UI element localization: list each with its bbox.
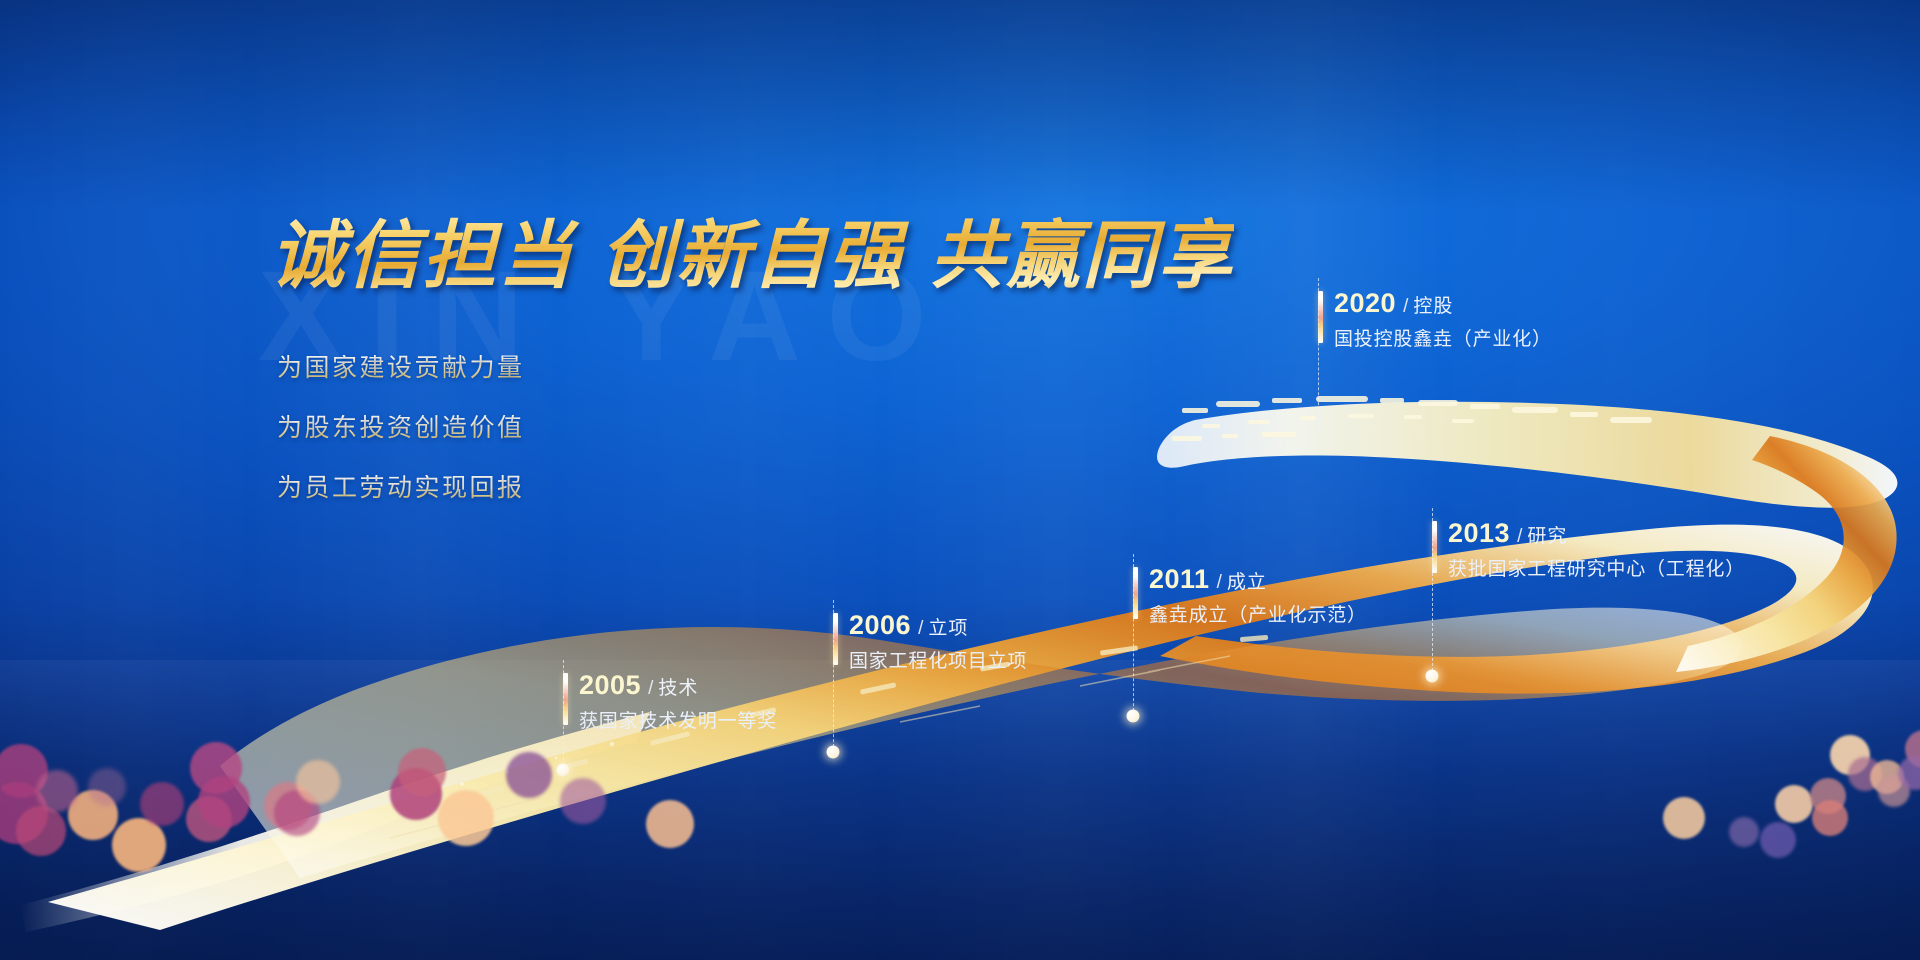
- timeline-leader-2005: [563, 660, 564, 770]
- bokeh-dot: [560, 778, 606, 824]
- timeline-desc-2020: 国投控股鑫垚（产业化）: [1334, 330, 1552, 349]
- bokeh-dot: [646, 800, 694, 848]
- page-title: 诚信担当创新自强共赢同享: [270, 196, 1234, 303]
- timeline-desc-2011: 鑫垚成立（产业化示范）: [1149, 606, 1367, 625]
- bokeh-dot: [140, 782, 184, 826]
- headline-part-1: 诚信担当: [270, 213, 574, 299]
- timeline-separator: /: [1517, 526, 1522, 547]
- bokeh-dot: [506, 752, 552, 798]
- bokeh-dot: [36, 770, 78, 812]
- slogan-item-3: 为员工劳动实现回报: [277, 475, 637, 500]
- timeline-leader-2011: [1133, 554, 1134, 716]
- timeline-desc-2013: 获批国家工程研究中心（工程化）: [1448, 560, 1745, 579]
- timeline-head-2020: 2020/控股 国投控股鑫垚（产业化）: [1318, 290, 1552, 349]
- timeline-tag-2006: 立项: [928, 617, 968, 639]
- timeline-separator: /: [648, 678, 653, 699]
- timeline-leader-2020: [1318, 278, 1319, 430]
- bokeh-dot: [198, 776, 250, 828]
- bokeh-dot: [1729, 817, 1759, 847]
- bokeh-dot: [438, 790, 494, 846]
- timeline-separator: /: [1403, 296, 1408, 317]
- timeline-separator: /: [1217, 572, 1222, 593]
- timeline-year-2006: 2006: [849, 610, 911, 640]
- headline-part-2: 创新自强: [600, 213, 904, 299]
- bokeh-dot: [112, 818, 166, 872]
- timeline-item-2006[interactable]: 2006/立项 国家工程化项目立项: [833, 612, 1027, 671]
- timeline-head-2013: 2013/研究 获批国家工程研究中心（工程化）: [1432, 520, 1745, 579]
- timeline-desc-2006: 国家工程化项目立项: [849, 652, 1027, 671]
- bokeh-dot: [1812, 800, 1848, 836]
- timeline-tag-2013: 研究: [1527, 525, 1567, 547]
- timeline-year-2013: 2013: [1448, 518, 1510, 548]
- bokeh-dot: [88, 768, 126, 806]
- timeline-year-2020: 2020: [1334, 288, 1396, 318]
- timeline-item-2020[interactable]: 2020/控股 国投控股鑫垚（产业化）: [1318, 290, 1552, 349]
- timeline-head-2005: 2005/技术 获国家技术发明一等奖: [563, 672, 777, 731]
- timeline-year-2005: 2005: [579, 670, 641, 700]
- timeline-tag-2005: 技术: [658, 677, 698, 699]
- bokeh-dot: [296, 760, 340, 804]
- bokeh-dot: [16, 806, 66, 856]
- slogan-item-1: 为国家建设贡献力量: [277, 355, 637, 380]
- bokeh-dot: [398, 748, 446, 796]
- timeline-head-2006: 2006/立项 国家工程化项目立项: [833, 612, 1027, 671]
- bokeh-dot: [1663, 797, 1705, 839]
- timeline-desc-2005: 获国家技术发明一等奖: [579, 712, 777, 731]
- slogan-item-2: 为股东投资创造价值: [277, 415, 637, 440]
- slogan-list: 为国家建设贡献力量 为股东投资创造价值 为员工劳动实现回报: [277, 355, 637, 500]
- timeline-item-2005[interactable]: 2005/技术 获国家技术发明一等奖: [563, 672, 777, 731]
- timeline-separator: /: [918, 618, 923, 639]
- banner-stage: XIN YAO: [0, 0, 1920, 960]
- timeline-leader-2006: [833, 600, 834, 752]
- timeline-item-2011[interactable]: 2011/成立 鑫垚成立（产业化示范）: [1133, 566, 1367, 625]
- bokeh-dot: [1775, 785, 1813, 823]
- timeline-dot-2011: [1127, 710, 1140, 723]
- timeline-item-2013[interactable]: 2013/研究 获批国家工程研究中心（工程化）: [1432, 520, 1745, 579]
- timeline-head-2011: 2011/成立 鑫垚成立（产业化示范）: [1133, 566, 1367, 625]
- bokeh-dot: [1760, 822, 1796, 858]
- timeline-leader-2013: [1432, 508, 1433, 676]
- timeline-tag-2011: 成立: [1227, 571, 1267, 593]
- timeline-year-2011: 2011: [1149, 564, 1210, 594]
- timeline-dot-2006: [827, 746, 840, 759]
- timeline-dot-2013: [1426, 670, 1439, 683]
- timeline-dot-2005: [557, 764, 570, 777]
- timeline-tag-2020: 控股: [1413, 295, 1453, 317]
- headline-part-3: 共赢同享: [930, 213, 1234, 299]
